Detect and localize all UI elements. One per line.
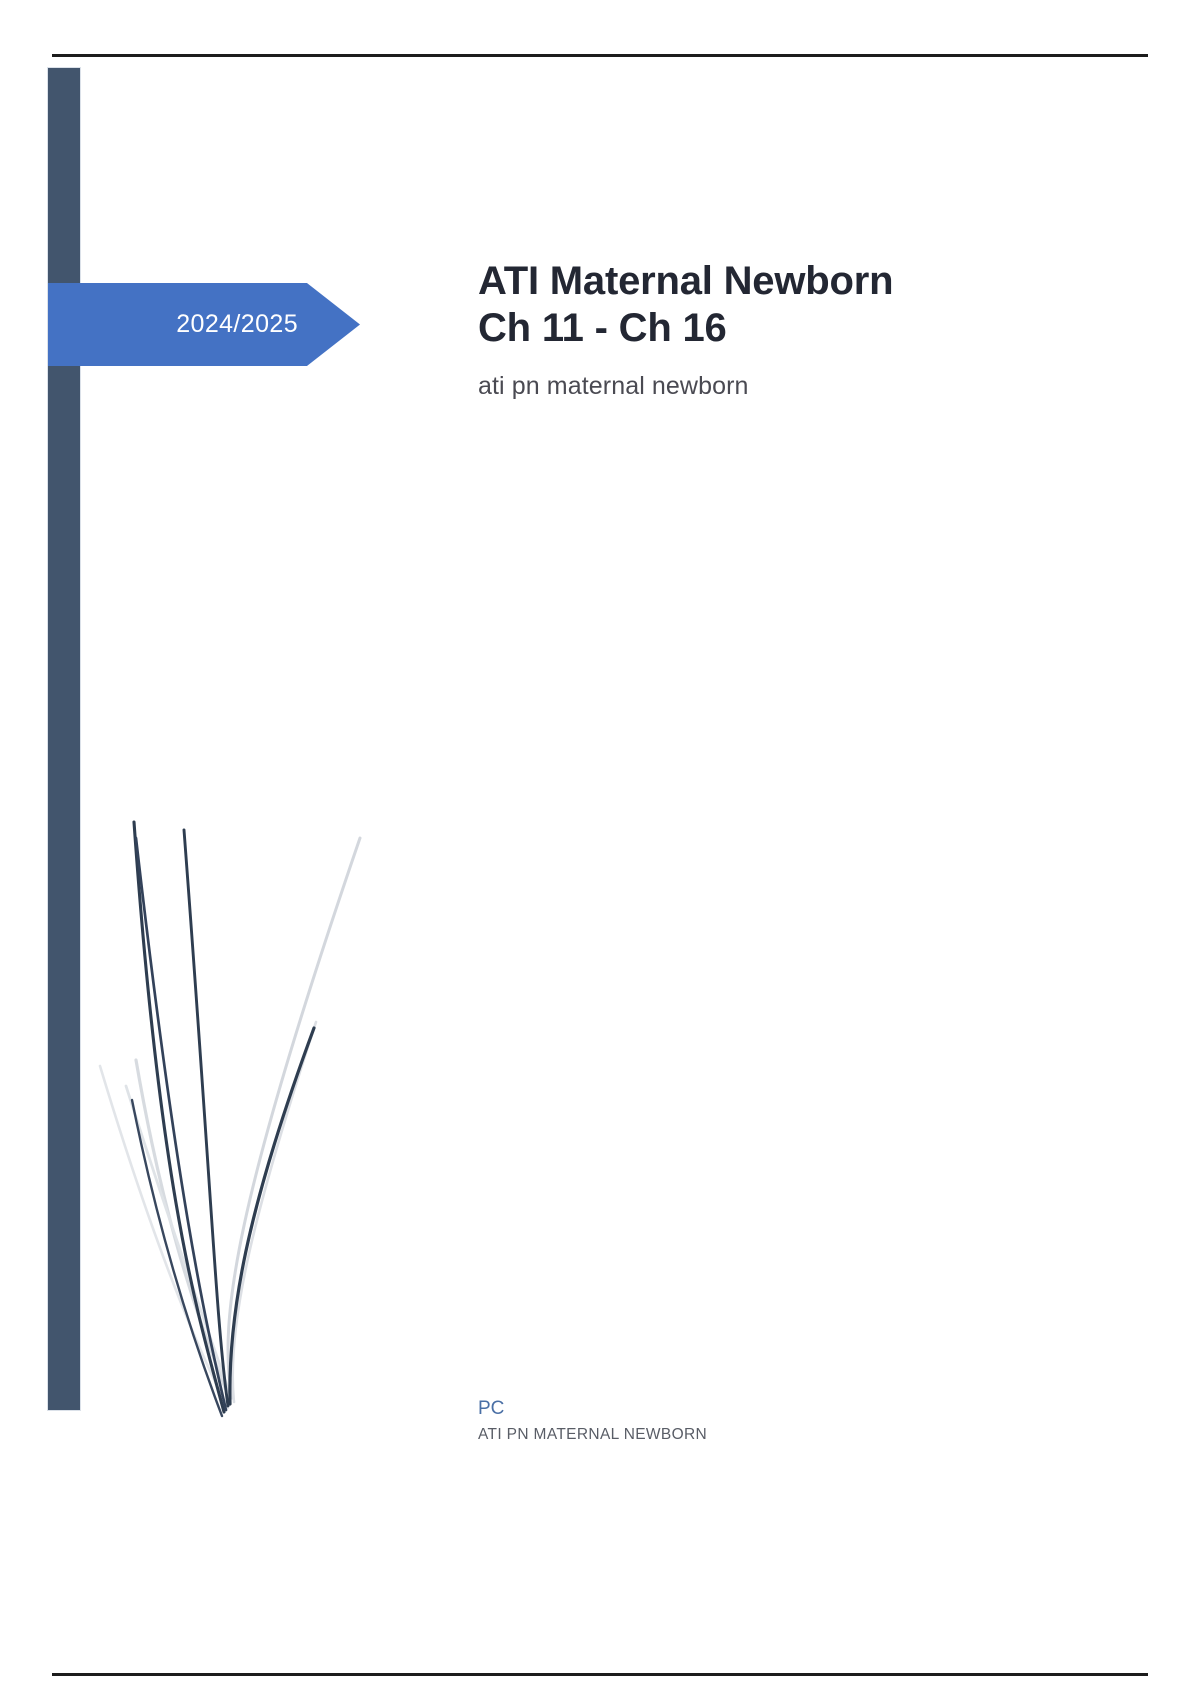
page-top-rule [52,54,1148,57]
year-ribbon-badge: 2024/2025 [48,283,360,366]
title-block: ATI Maternal NewbornCh 11 - Ch 16 ati pn… [478,258,1098,401]
year-ribbon-label: 2024/2025 [176,310,360,339]
document-page: 2024/2025 ATI Maternal NewbornCh 11 - Ch… [0,0,1200,1700]
footer-course: ATI PN MATERNAL NEWBORN [478,1426,978,1444]
grass-blades-decoration [40,760,400,1420]
footer-author: PC [478,1396,978,1422]
left-spine-bar [48,68,80,1410]
page-title-line-2: Ch 11 - Ch 16 [478,306,727,350]
page-subtitle: ati pn maternal newborn [478,372,1098,401]
page-title: ATI Maternal NewbornCh 11 - Ch 16 [478,258,1098,352]
footer-block: PC ATI PN MATERNAL NEWBORN [478,1396,978,1444]
page-title-line-1: ATI Maternal Newborn [478,259,893,303]
page-bottom-rule [52,1673,1148,1676]
